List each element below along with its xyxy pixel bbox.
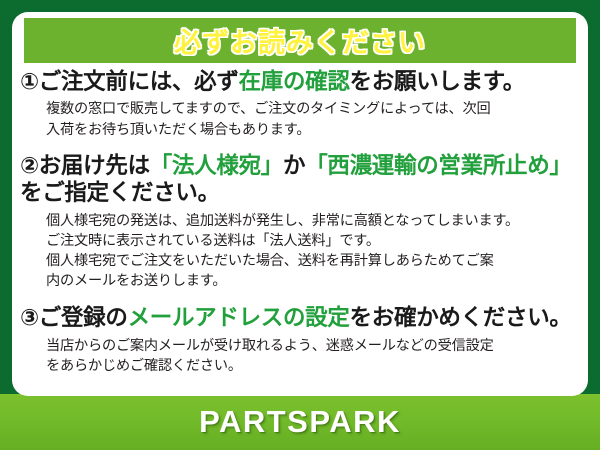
- item-2-body-line-3: 個人様宅宛でご注文をいただいた場合、送料を再計算しあらためてご案: [46, 251, 582, 271]
- item-3-body-line-1: 当店からのご案内メールが受け取れるよう、迷惑メールなどの受信設定: [46, 336, 582, 356]
- content-panel: 必ずお読みください ①ご注文前には、必ず在庫の確認をお願いします。 複数の窓口で…: [12, 12, 588, 396]
- item-3-marker: ③: [20, 305, 39, 331]
- title-banner: 必ずお読みください: [24, 18, 576, 63]
- item-3-body-line-2: をあらかじめご確認ください。: [46, 356, 582, 376]
- item-2-part-1-highlight: 「法人様宛」: [150, 153, 283, 179]
- item-1-part-2: をお願いします。: [350, 69, 525, 95]
- notice-items-list: ①ご注文前には、必ず在庫の確認をお願いします。 複数の窓口で販売してますので、ご…: [12, 67, 588, 396]
- item-2-part-2: か: [283, 153, 305, 179]
- item-3-part-2: をお確かめください。: [350, 305, 572, 331]
- brand-logo-text: PARTSPARK: [199, 404, 401, 440]
- item-2-marker: ②: [20, 153, 39, 179]
- item-1-marker: ①: [20, 69, 39, 95]
- list-item: ②お届け先は「法人様宛」か「西濃運輸の営業所止め」をご指定ください。 個人様宅宛…: [20, 153, 582, 292]
- list-item: ①ご注文前には、必ず在庫の確認をお願いします。 複数の窓口で販売してますので、ご…: [20, 69, 582, 140]
- item-3-heading: ③ご登録のメールアドレスの設定をお確かめください。: [20, 305, 582, 332]
- item-2-body-line-4: 内のメールをお送りします。: [46, 271, 582, 291]
- item-2-body-line-1: 個人様宅宛の発送は、追加送料が発生し、非常に高額となってしまいます。: [46, 211, 582, 231]
- item-1-body-line-2: 入荷をお待ち頂いただく場合もあります。: [46, 120, 582, 140]
- item-1-part-0: ご注文前には、必ず: [39, 69, 239, 95]
- item-3-part-0: ご登録の: [39, 305, 128, 331]
- page-title: 必ずお読みください: [174, 21, 426, 60]
- item-2-body-line-2: ご注文時に表示されている送料は「法人送料」です。: [46, 231, 582, 251]
- item-2-heading: ②お届け先は「法人様宛」か「西濃運輸の営業所止め」をご指定ください。: [20, 153, 582, 208]
- item-1-heading: ①ご注文前には、必ず在庫の確認をお願いします。: [20, 69, 582, 96]
- brand-footer: PARTSPARK: [0, 394, 600, 450]
- item-2-part-4: をご指定ください。: [20, 180, 220, 206]
- notice-card: 必ずお読みください ①ご注文前には、必ず在庫の確認をお願いします。 複数の窓口で…: [0, 0, 600, 450]
- item-2-body: 個人様宅宛の発送は、追加送料が発生し、非常に高額となってしまいます。 ご注文時に…: [20, 208, 582, 292]
- item-2-part-3-highlight: 「西濃運輸の営業所止め」: [305, 153, 571, 179]
- list-item: ③ご登録のメールアドレスの設定をお確かめください。 当店からのご案内メールが受け…: [20, 305, 582, 376]
- item-1-body-line-1: 複数の窓口で販売してますので、ご注文のタイミングによっては、次回: [46, 99, 582, 119]
- item-2-part-0: お届け先は: [39, 153, 150, 179]
- item-3-part-1-highlight: メールアドレスの設定: [128, 305, 350, 331]
- item-1-part-1-highlight: 在庫の確認: [239, 69, 350, 95]
- item-3-body: 当店からのご案内メールが受け取れるよう、迷惑メールなどの受信設定 をあらかじめご…: [20, 333, 582, 376]
- item-1-body: 複数の窓口で販売してますので、ご注文のタイミングによっては、次回 入荷をお待ち頂…: [20, 96, 582, 139]
